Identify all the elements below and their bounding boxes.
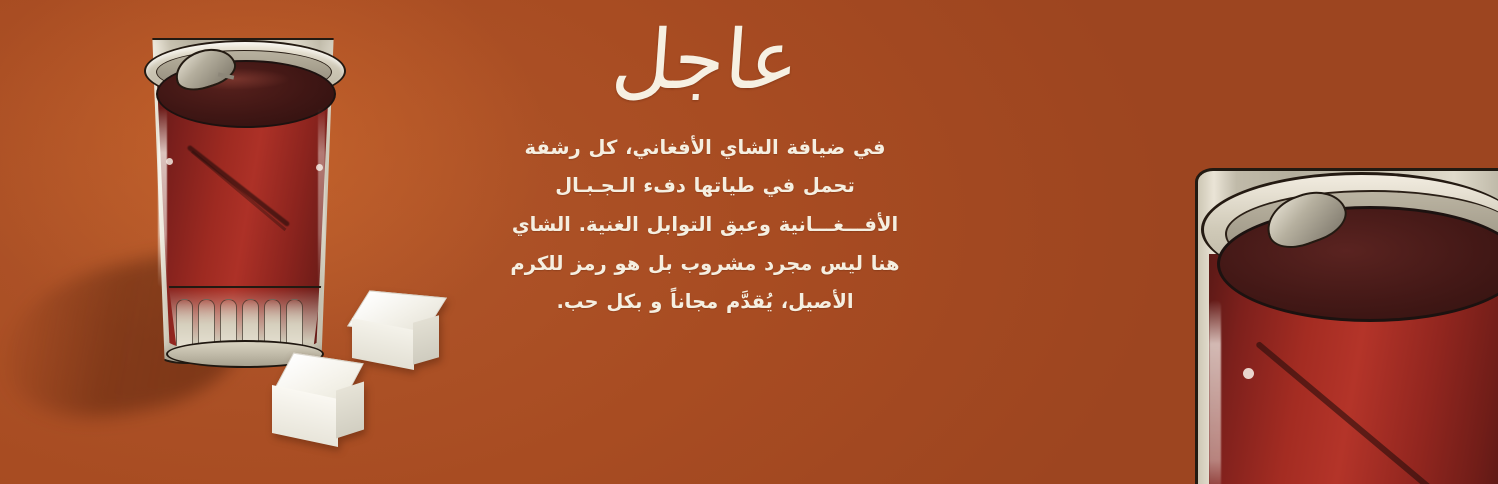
glass-flute <box>264 299 281 346</box>
glass-highlight-left <box>158 108 167 288</box>
glass-flute <box>198 299 215 346</box>
tea-glass-tumbler-cropped <box>1195 168 1498 484</box>
sugar-cube-side-face <box>413 315 439 364</box>
sugar-cube-upper <box>350 294 446 368</box>
headline: عاجل <box>608 6 802 117</box>
right-tea-glass-illustration <box>1195 168 1498 484</box>
sugar-cube-lower <box>272 358 376 444</box>
body-copy: في ضيافة الشاي الأفغاني، كل رشفة تحمل في… <box>503 129 907 322</box>
tea-glass-tumbler <box>140 38 346 364</box>
glass-flute <box>286 299 303 346</box>
glass-flute <box>176 299 193 346</box>
glass-bubble <box>316 164 323 171</box>
glass-highlight-right <box>318 108 325 288</box>
glass-highlight-left <box>1209 300 1221 484</box>
sugar-cube-side-face <box>336 381 364 438</box>
left-tea-glass-illustration <box>112 26 392 466</box>
glass-flute <box>220 299 237 346</box>
text-block: عاجل في ضيافة الشاي الأفغاني، كل رشفة تح… <box>490 0 920 484</box>
glass-bubble <box>166 158 173 165</box>
tea-banner: عاجل في ضيافة الشاي الأفغاني، كل رشفة تح… <box>0 0 1498 484</box>
glass-bubble <box>1243 368 1254 379</box>
glass-flute <box>242 299 259 346</box>
